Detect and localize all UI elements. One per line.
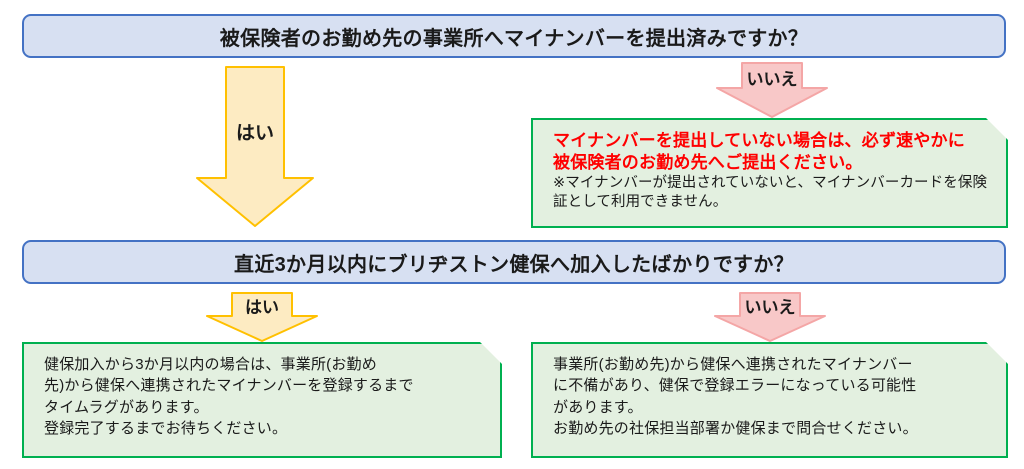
note-box-time-lag-content: 健保加入から3か月以内の場合は、事業所(お勤め 先)から健保へ連携されたマイナン… <box>24 344 500 456</box>
note-box-submit-mynumber-content: マイナンバーを提出していない場合は、必ず速やかに 被保険者のお勤め先へご提出くだ… <box>533 120 1006 226</box>
arrow-yes-large: はい <box>196 66 314 228</box>
note-box-time-lag: 健保加入から3か月以内の場合は、事業所(お勤め 先)から健保へ連携されたマイナン… <box>22 342 502 458</box>
note-emphasis-line-1: マイナンバーを提出していない場合は、必ず速やかに <box>553 130 992 152</box>
note-error-line-2: に不備があり、健保で登録エラーになっている可能性 <box>553 375 992 396</box>
note-timelag-line-2: 先)から健保へ連携されたマイナンバーを登録するまで <box>44 375 486 396</box>
note-error-line-1: 事業所(お勤め先)から健保へ連携されたマイナンバー <box>553 354 992 375</box>
flowchart-canvas: 被保険者のお勤め先の事業所へマイナンバーを提出済みですか？ はい いいえ マイナ… <box>0 0 1024 469</box>
arrow-no-top: いいえ <box>716 62 828 118</box>
note-error-line-4: お勤め先の社保担当部署か健保まで問合せください。 <box>553 418 992 439</box>
decision-box-recent-enrollment: 直近3か月以内にブリヂストン健保へ加入したばかりですか？ <box>22 240 1006 284</box>
arrow-no-top-shape <box>716 62 828 118</box>
arrow-yes-large-shape <box>196 66 314 228</box>
note-timelag-line-1: 健保加入から3か月以内の場合は、事業所(お勤め <box>44 354 486 375</box>
note-detail-line-1: ※マイナンバーが提出されていないと、マイナンバーカードを保険 <box>553 174 992 193</box>
note-emphasis-line-2: 被保険者のお勤め先へご提出ください。 <box>553 152 992 174</box>
arrow-no-bottom-shape <box>714 292 826 342</box>
decision1-label: 被保険者のお勤め先の事業所へマイナンバーを提出済みですか？ <box>220 22 808 51</box>
decision-box-mynumber-submitted: 被保険者のお勤め先の事業所へマイナンバーを提出済みですか？ <box>22 14 1006 58</box>
note-box-registration-error-content: 事業所(お勤め先)から健保へ連携されたマイナンバー に不備があり、健保で登録エラ… <box>533 344 1006 456</box>
decision2-label: 直近3か月以内にブリヂストン健保へ加入したばかりですか？ <box>234 248 794 277</box>
note-error-line-3: があります。 <box>553 397 992 418</box>
note-timelag-line-3: タイムラグがあります。 <box>44 397 486 418</box>
arrow-yes-bottom: はい <box>206 292 318 342</box>
note-box-registration-error: 事業所(お勤め先)から健保へ連携されたマイナンバー に不備があり、健保で登録エラ… <box>531 342 1008 458</box>
note-timelag-line-4: 登録完了するまでお待ちください。 <box>44 418 486 439</box>
arrow-no-bottom: いいえ <box>714 292 826 342</box>
note-detail-line-2: 証として利用できません。 <box>553 193 992 212</box>
arrow-yes-bottom-shape <box>206 292 318 342</box>
note-box-submit-mynumber: マイナンバーを提出していない場合は、必ず速やかに 被保険者のお勤め先へご提出くだ… <box>531 118 1008 228</box>
